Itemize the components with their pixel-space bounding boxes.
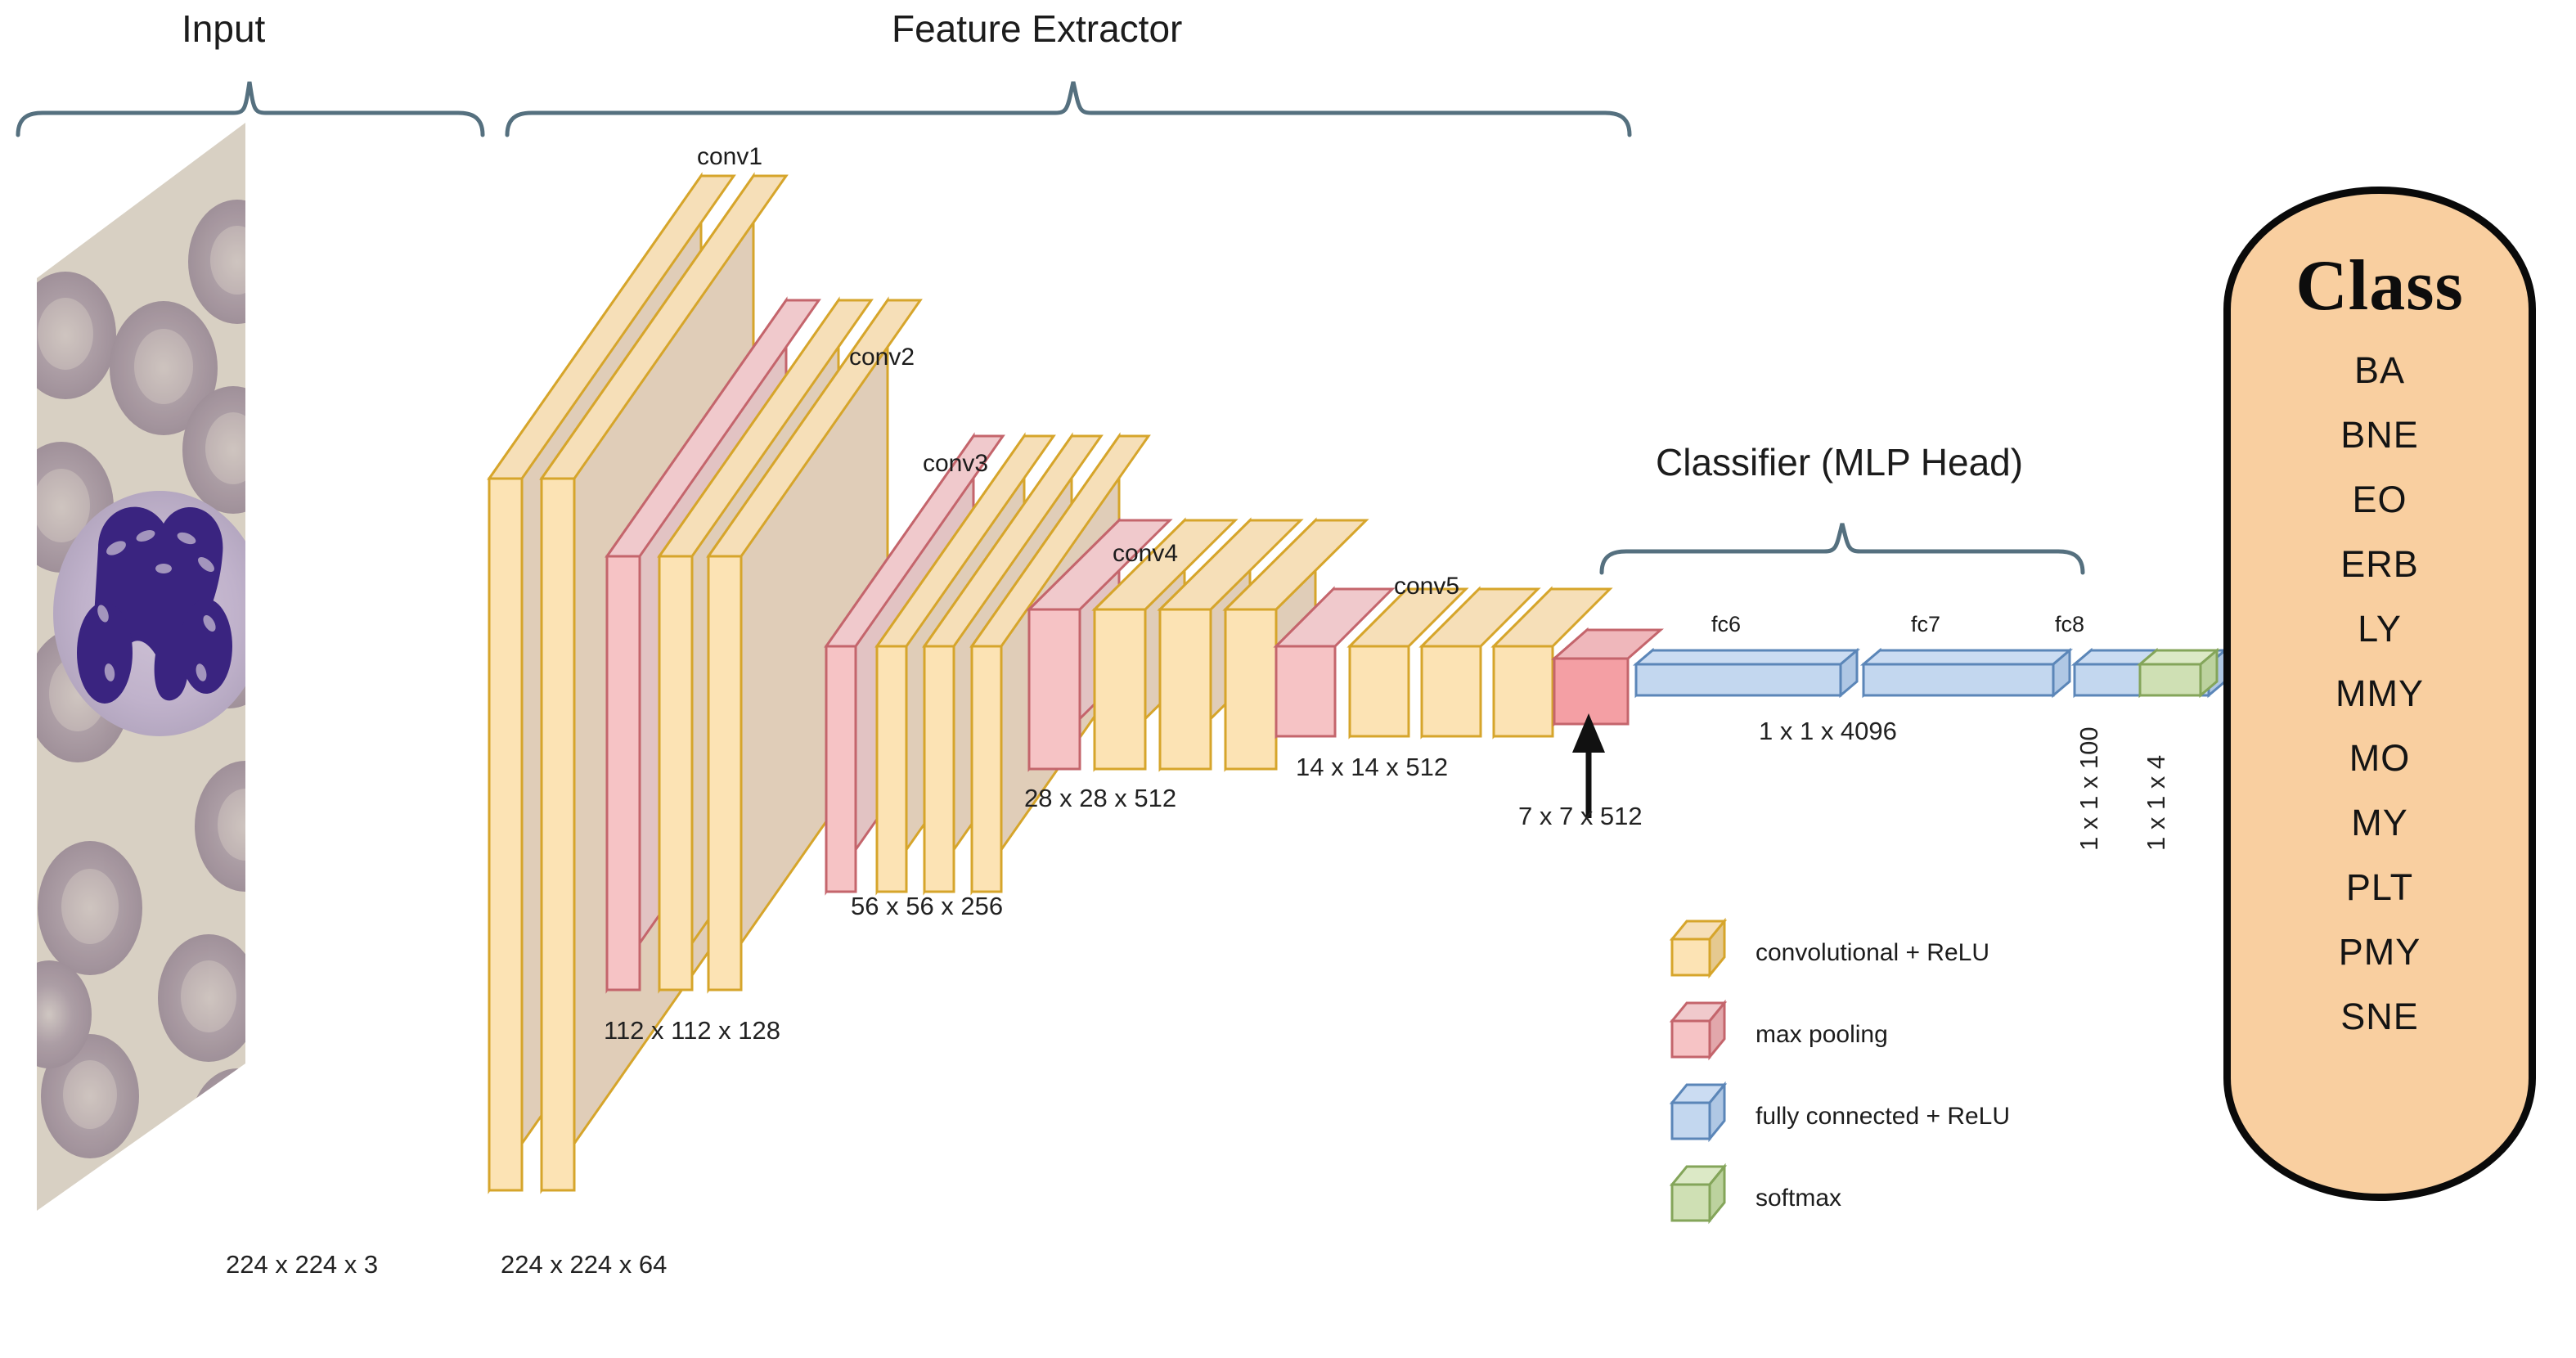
- fc7-block: [1863, 650, 2070, 695]
- dim-label-conv5: 14 x 14 x 512: [1296, 753, 1448, 782]
- block-label-conv1: conv1: [697, 143, 762, 171]
- class-item-mmy: MMY: [2335, 672, 2424, 715]
- dim-label-pool5: 7 x 7 x 512: [1518, 802, 1643, 831]
- class-item-eo: EO: [2352, 479, 2407, 521]
- class-item-bne: BNE: [2340, 414, 2419, 456]
- class-item-sne: SNE: [2340, 996, 2419, 1038]
- dim-label-fc8: 1 x 1 x 100: [2075, 726, 2104, 851]
- class-item-erb: ERB: [2340, 543, 2419, 586]
- class-item-ly: LY: [2358, 608, 2402, 650]
- legend-label-softmax: softmax: [1756, 1185, 1841, 1212]
- class-item-my: MY: [2351, 802, 2408, 844]
- legend-cube-fc: [1672, 1085, 1724, 1139]
- block-label-fc8: fc8: [2055, 612, 2084, 637]
- legend-label-conv: convolutional + ReLU: [1756, 939, 1989, 967]
- dim-label-conv4: 28 x 28 x 512: [1024, 784, 1176, 813]
- legend-cube-pool: [1672, 1003, 1724, 1057]
- section-label-input: Input: [182, 7, 265, 51]
- class-panel: Class BA BNE EO ERB LY MMY MO MY PLT PMY…: [2223, 187, 2536, 1201]
- class-item-mo: MO: [2349, 737, 2411, 780]
- dim-label-conv3: 56 x 56 x 256: [851, 892, 1003, 921]
- dim-label-conv1: 224 x 224 x 64: [501, 1250, 667, 1279]
- legend-label-pool: max pooling: [1756, 1021, 1888, 1049]
- softmax-block: [2140, 650, 2217, 695]
- legend-label-fc: fully connected + ReLU: [1756, 1103, 2010, 1131]
- block-label-conv5: conv5: [1394, 573, 1459, 600]
- block-label-fc6: fc6: [1711, 612, 1741, 637]
- class-item-plt: PLT: [2346, 866, 2413, 909]
- section-label-classifier: Classifier (MLP Head): [1656, 440, 2023, 484]
- block-label-conv3: conv3: [923, 450, 988, 478]
- network-blocks: [0, 0, 2576, 1358]
- dim-label-input: 224 x 224 x 3: [226, 1250, 378, 1279]
- legend-cube-conv: [1672, 921, 1724, 975]
- fc6-block: [1636, 650, 1857, 695]
- dim-label-fc-shared: 1 x 1 x 4096: [1759, 717, 1897, 746]
- dim-label-softmax: 1 x 1 x 4: [2142, 755, 2171, 851]
- block-label-conv4: conv4: [1113, 540, 1178, 568]
- section-label-feature-extractor: Feature Extractor: [892, 7, 1182, 51]
- class-panel-title: Class: [2295, 245, 2464, 327]
- dim-label-conv2: 112 x 112 x 128: [604, 1016, 780, 1045]
- legend-cube-softmax: [1672, 1167, 1724, 1221]
- class-item-pmy: PMY: [2339, 931, 2421, 974]
- class-item-ba: BA: [2354, 349, 2405, 392]
- block-label-fc7: fc7: [1911, 612, 1940, 637]
- block-label-conv2: conv2: [849, 344, 915, 371]
